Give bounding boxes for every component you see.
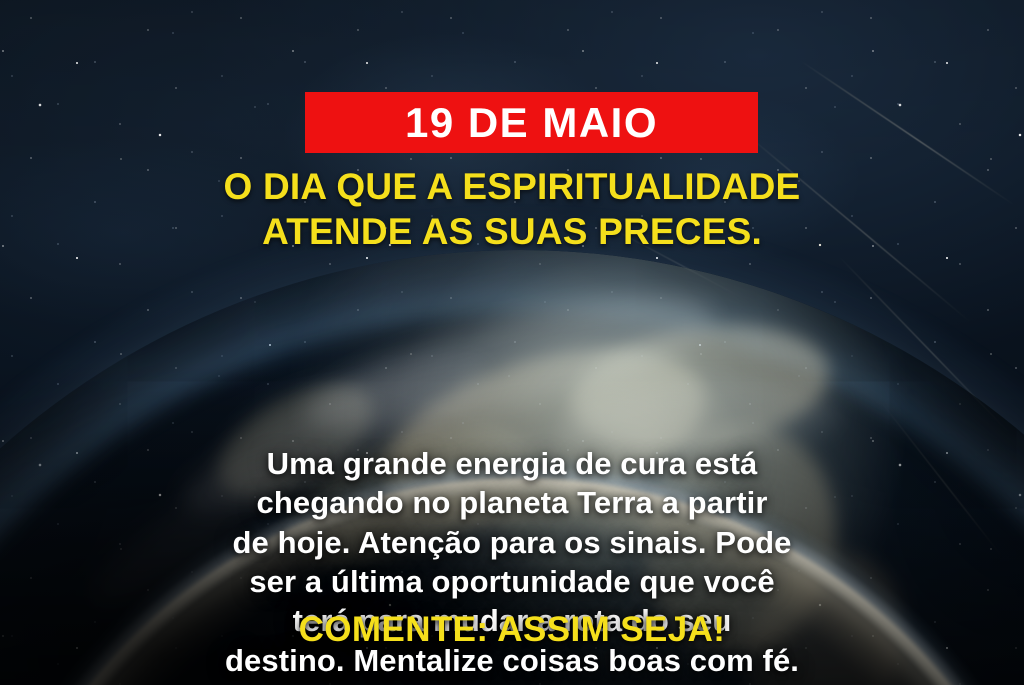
headline: O DIA QUE A ESPIRITUALIDADE ATENDE AS SU… [0, 164, 1024, 254]
headline-line-2: ATENDE AS SUAS PRECES. [28, 209, 996, 254]
date-banner-label: 19 DE MAIO [405, 102, 658, 144]
body-line-2: chegando no planeta Terra a partir [52, 483, 972, 522]
poster-content: 19 DE MAIO O DIA QUE A ESPIRITUALIDADE A… [0, 0, 1024, 685]
call-to-action-text: COMENTE: ASSIM SEJA! [0, 611, 1024, 650]
body-line-1: Uma grande energia de cura está [52, 444, 972, 483]
poster-canvas: 19 DE MAIO O DIA QUE A ESPIRITUALIDADE A… [0, 0, 1024, 685]
body-line-3: de hoje. Atenção para os sinais. Pode [52, 523, 972, 562]
date-banner: 19 DE MAIO [305, 92, 758, 153]
headline-line-1: O DIA QUE A ESPIRITUALIDADE [28, 164, 996, 209]
body-line-4: ser a última oportunidade que você [52, 562, 972, 601]
